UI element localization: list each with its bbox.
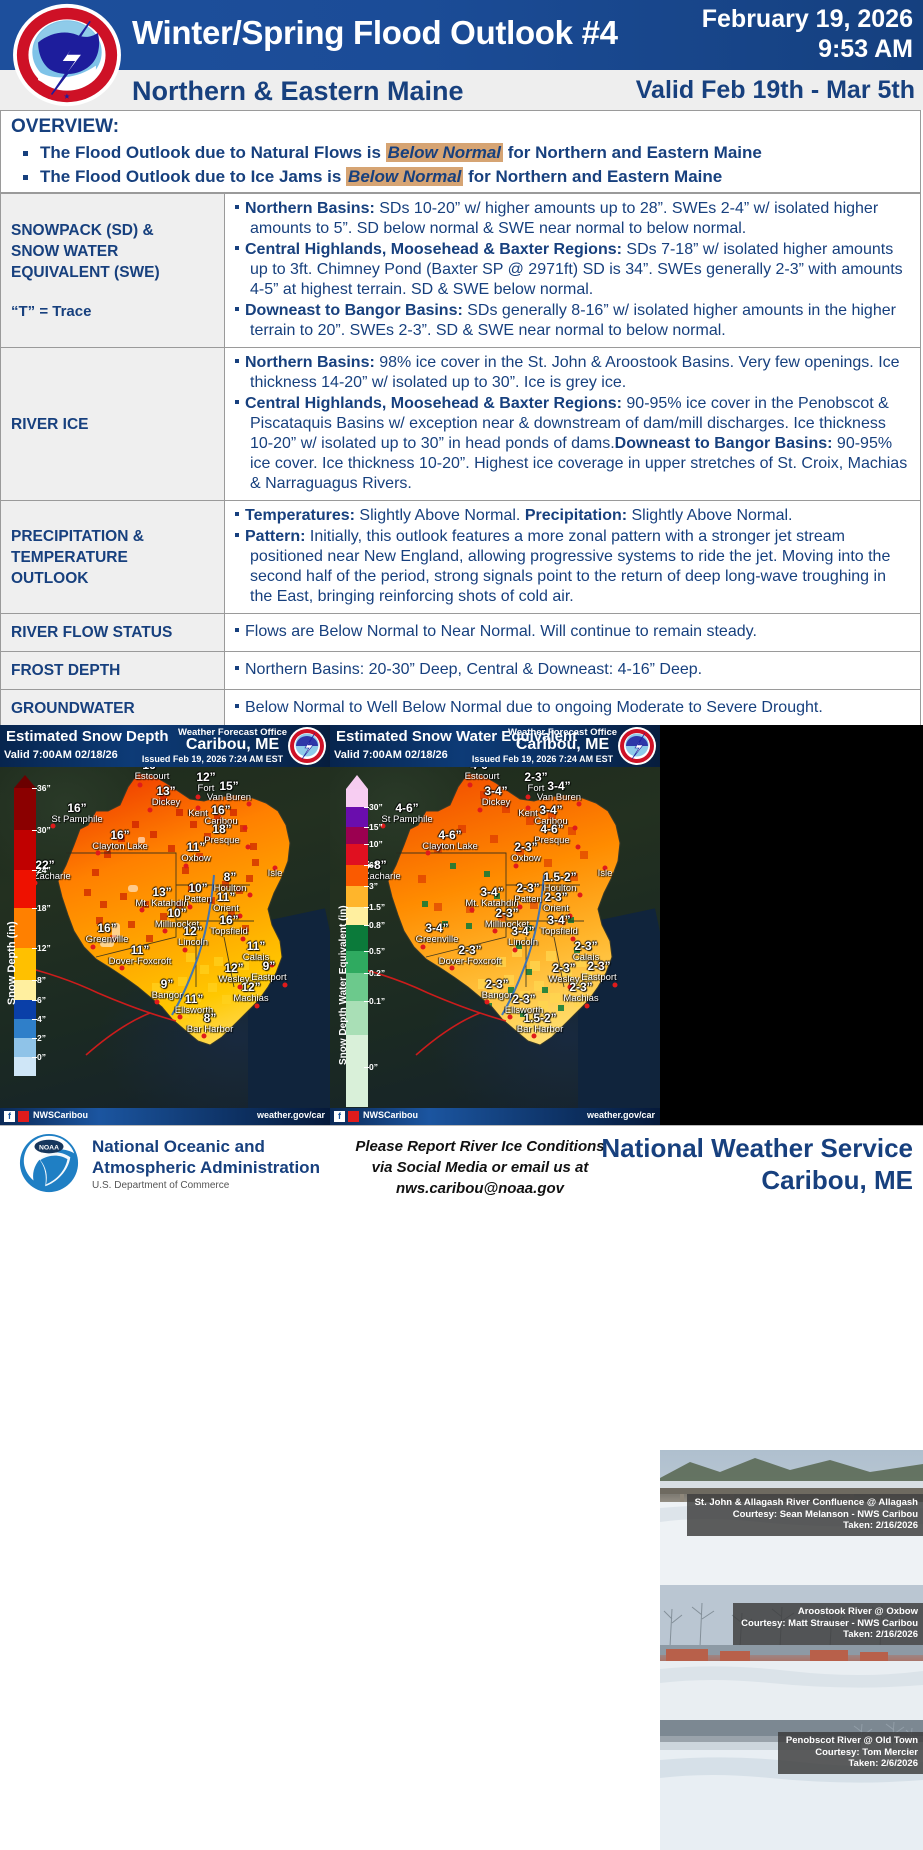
content-bullet: Central Highlands, Moosehead & Baxter Re… [235, 240, 912, 300]
bullet-lead-label: Pattern: [245, 528, 305, 545]
station-label: 3-4”Topsfield [540, 914, 578, 937]
station-name: Isle [598, 868, 613, 879]
station-value: 2-3” [485, 907, 529, 919]
station-value: 3-4” [534, 804, 567, 816]
row-content: Temperatures: Slightly Above Normal. Pre… [225, 501, 921, 614]
station-name: Bar Harbor [187, 1024, 233, 1035]
row-label-line: FROST DEPTH [11, 660, 224, 681]
station-label: 2-3”Orient [543, 891, 569, 914]
snow-water-equivalent-map[interactable]: 30” 15” 10” 6” 3” 1.5” 0.8” 0.5” 0.2” 0.… [330, 725, 660, 1125]
station-name: Van Buren [207, 792, 251, 803]
station-name: Topsfield [540, 926, 578, 937]
page-footer: NOAA National Oceanic and Atmospheric Ad… [0, 1125, 923, 1201]
row-label-line: RIVER ICE [11, 414, 224, 435]
social-bar: f NWSCaribou weather.gov/car [0, 1108, 330, 1125]
caption-line-1: Aroostook River @ Oxbow [741, 1606, 918, 1618]
colorbar-axis-label: Snow Depth (in) [6, 921, 18, 1005]
station-marker [578, 893, 583, 898]
graphics-band: 36” 30” 24” 18” 12” 8” 6” 4” 2” 0” Snow … [0, 725, 923, 1125]
row-label: GROUNDWATER [1, 690, 225, 728]
station-name: Bar Harbor [517, 1024, 563, 1035]
station-name: Lincoln [178, 937, 208, 948]
bullet-square-icon [23, 151, 28, 156]
station-value: 2-3” [482, 978, 513, 990]
station-label: Isle [268, 868, 283, 879]
bullet-lead-label: Downeast to Bangor Basins: [245, 302, 463, 319]
colorbar-tick: 24” [37, 865, 51, 875]
station-label: 3-4”Van Buren [537, 780, 581, 803]
table-row: RIVER ICENorthern Basins: 98% ice cover … [1, 348, 921, 501]
row-label-line: PRECIPITATION & [11, 526, 224, 547]
bullet-square-icon [235, 704, 239, 708]
header-valid-period: Valid Feb 19th - Mar 5th [636, 76, 915, 105]
caption-line-2: Courtesy: Tom Mercier [786, 1747, 918, 1759]
station-value: 11” [243, 940, 269, 952]
noaa-agency-name: National Oceanic and Atmospheric Adminis… [92, 1136, 320, 1178]
table-row: SNOWPACK (SD) &SNOW WATEREQUIVALENT (SWE… [1, 194, 921, 348]
station-value: 1.5-2” [543, 871, 576, 883]
station-label: 8”Bar Harbor [187, 1012, 233, 1035]
colorbar-tick: 12” [37, 943, 51, 953]
overview-bullet-list: The Flood Outlook due to Natural Flows i… [19, 141, 762, 189]
station-value: 3-4” [540, 914, 578, 926]
station-value: 4-6” [534, 823, 569, 835]
map-wfo-office: Caribou, ME [500, 736, 625, 754]
facebook-icon[interactable]: f [334, 1111, 345, 1122]
social-handle: NWSCaribou [33, 1110, 88, 1120]
social-bar: f NWSCaribou weather.gov/car [330, 1108, 660, 1125]
swe-colorbar: 30” 15” 10” 6” 3” 1.5” 0.8” 0.5” 0.2” 0.… [346, 775, 410, 1095]
bullet-lead-label: Central Highlands, Moosehead & Baxter Re… [245, 395, 622, 412]
outlook-table: SNOWPACK (SD) &SNOW WATEREQUIVALENT (SWE… [0, 193, 921, 728]
station-value: 16” [210, 914, 248, 926]
station-value: 2-3” [439, 944, 502, 956]
overview-panel: OVERVIEW: The Flood Outlook due to Natur… [0, 110, 921, 193]
svg-text:NOAA: NOAA [39, 1144, 59, 1151]
content-bullet: Below Normal to Well Below Normal due to… [235, 698, 912, 718]
noaa-line-1: National Oceanic and [92, 1136, 320, 1157]
noaa-line-2: Atmospheric Administration [92, 1157, 320, 1178]
station-name: Dickey [482, 797, 511, 808]
map-valid-time: Valid 7:00AM 02/18/26 [4, 749, 118, 761]
colorbar-tick: 1.5” [369, 902, 385, 912]
colorbar-tick: 18” [37, 903, 51, 913]
table-row: GROUNDWATERBelow Normal to Well Below No… [1, 690, 921, 728]
station-name: Patten [184, 894, 211, 905]
station-value: 1.5-2” [517, 1012, 563, 1024]
row-content: Flows are Below Normal to Near Normal. W… [225, 614, 921, 652]
twitter-icon[interactable] [18, 1111, 29, 1122]
station-value: 11” [175, 993, 214, 1005]
bullet-square-icon [235, 246, 239, 250]
caption-line-2: Courtesy: Sean Melanson - NWS Caribou [695, 1509, 918, 1521]
report-email[interactable]: nws.caribou@noaa.gov [330, 1178, 630, 1199]
station-marker [468, 783, 473, 788]
bullet-lead-label: Central Highlands, Moosehead & Baxter Re… [245, 241, 622, 258]
colorbar-tick: 6” [37, 995, 46, 1005]
station-value: 2-3” [549, 962, 580, 974]
facebook-icon[interactable]: f [4, 1111, 15, 1122]
station-marker [573, 826, 578, 831]
bullet-square-icon [23, 175, 28, 180]
station-label: 3-4”Dickey [482, 785, 511, 808]
station-name: Clayton Lake [422, 841, 477, 852]
svg-text:★: ★ [64, 92, 71, 100]
snow-depth-map[interactable]: 36” 30” 24” 18” 12” 8” 6” 4” 2” 0” Snow … [0, 725, 330, 1125]
station-marker [91, 945, 96, 950]
caption-line-3: Taken: 2/6/2026 [786, 1758, 918, 1770]
station-marker [184, 864, 189, 869]
content-bullet: Pattern: Initially, this outlook feature… [235, 527, 912, 607]
nws-logo-icon: ★ [8, 2, 126, 108]
twitter-icon[interactable] [348, 1111, 359, 1122]
station-name: Estcourt [465, 771, 500, 782]
colorbar-tick: 30” [369, 802, 383, 812]
station-marker [526, 795, 531, 800]
station-value: 3-4” [537, 780, 581, 792]
station-label: 3-4”Lincoln [508, 925, 538, 948]
colorbar-tick: 3” [369, 881, 378, 891]
station-value: 18” [204, 823, 239, 835]
station-label: 12”Lincoln [178, 925, 208, 948]
station-value: 12” [178, 925, 208, 937]
station-value: 16” [86, 922, 129, 934]
station-name: Topsfield [210, 926, 248, 937]
row-label: RIVER ICE [1, 348, 225, 501]
content-bullet: Downeast to Bangor Basins: SDs generally… [235, 301, 912, 341]
station-value: 2-3” [543, 891, 569, 903]
bullet-square-icon [235, 666, 239, 670]
row-content: Below Normal to Well Below Normal due to… [225, 690, 921, 728]
station-value: 11” [181, 841, 211, 853]
photo-column: St. John & Allagash River Confluence @ A… [660, 1450, 923, 1850]
outlook-status-badge: Below Normal [346, 167, 463, 186]
map-header: Estimated Snow Water Equivalent Valid 7:… [330, 725, 660, 767]
station-marker [183, 948, 188, 953]
caption-line-1: St. John & Allagash River Confluence @ A… [695, 1497, 918, 1509]
row-label: PRECIPITATION &TEMPERATUREOUTLOOK [1, 501, 225, 614]
station-marker [196, 795, 201, 800]
station-name: Isle [268, 868, 283, 879]
station-label: 15”Van Buren [207, 780, 251, 803]
station-marker [585, 1004, 590, 1009]
colorbar-tick: 2” [37, 1033, 46, 1043]
bullet-square-icon [235, 628, 239, 632]
row-content: Northern Basins: 20-30” Deep, Central & … [225, 652, 921, 690]
station-label: 16”Greenville [86, 922, 129, 945]
photo-caption: St. John & Allagash River Confluence @ A… [687, 1494, 923, 1536]
nws-name: National Weather Service [601, 1132, 913, 1164]
station-value: 15” [207, 780, 251, 792]
overview-heading: OVERVIEW: [11, 116, 119, 138]
colorbar-axis-label: Snow Depth Water Equivalent (in) [338, 905, 349, 1065]
colorbar-tick: 0.2” [369, 968, 385, 978]
station-value: 3-4” [482, 785, 511, 797]
station-marker [613, 983, 618, 988]
bullet-lead-label: Temperatures: [245, 507, 355, 524]
table-row: RIVER FLOW STATUSFlows are Below Normal … [1, 614, 921, 652]
map-issued-time: Issued Feb 19, 2026 7:24 AM EST [460, 754, 625, 764]
station-marker [576, 845, 581, 850]
station-value: 8” [214, 871, 247, 883]
outlook-status-badge: Below Normal [386, 143, 503, 162]
station-label: 12”Machias [233, 981, 268, 1004]
station-value: 2-3” [581, 960, 616, 972]
station-value: 3-4” [465, 886, 518, 898]
station-value: 10” [155, 907, 199, 919]
colorbar-tick: 0.5” [369, 946, 385, 956]
bullet-square-icon [235, 359, 239, 363]
caption-line-1: Penobscot River @ Old Town [786, 1735, 918, 1747]
station-name: Patten [514, 894, 541, 905]
station-value: 11” [213, 891, 239, 903]
row-label: SNOWPACK (SD) &SNOW WATEREQUIVALENT (SWE… [1, 194, 225, 348]
social-handle: NWSCaribou [363, 1110, 418, 1120]
station-name: Oxbow [181, 853, 211, 864]
photo-st-john-allagash: St. John & Allagash River Confluence @ A… [660, 1450, 923, 1585]
row-label-line: SNOWPACK (SD) & [11, 220, 224, 241]
station-name: Dover-Foxcroft [439, 956, 502, 967]
caption-line-3: Taken: 2/16/2026 [741, 1629, 918, 1641]
station-label: 11”Orient [213, 891, 239, 914]
station-value: 10” [184, 882, 211, 894]
colorbar-tick: 8” [37, 975, 46, 985]
colorbar-tick: 10” [369, 839, 383, 849]
colorbar-tick: 0” [37, 1052, 46, 1062]
content-bullet: Northern Basins: SDs 10-20” w/ higher am… [235, 199, 912, 239]
row-label-line: OUTLOOK [11, 568, 224, 589]
row-label-line: EQUIVALENT (SWE) [11, 262, 224, 283]
station-value: 12” [219, 962, 250, 974]
content-bullet: Temperatures: Slightly Above Normal. Pre… [235, 506, 912, 526]
colorbar-gradient [346, 775, 368, 1107]
station-label: 16”Clayton Lake [92, 829, 147, 852]
station-name: Oxbow [511, 853, 541, 864]
station-marker [243, 826, 248, 831]
bullet-square-icon [235, 512, 239, 516]
station-marker [478, 808, 483, 813]
station-marker [514, 864, 519, 869]
table-row: FROST DEPTHNorthern Basins: 20-30” Deep,… [1, 652, 921, 690]
bullet-square-icon [235, 205, 239, 209]
station-value: 9” [251, 960, 286, 972]
station-name: Machias [233, 993, 268, 1004]
bullet-lead-label-2: Downeast to Bangor Basins: [615, 435, 833, 452]
station-value: 3-4” [508, 925, 538, 937]
station-label: 2-3”Patten [514, 882, 541, 905]
snow-depth-colorbar: 36” 30” 24” 18” 12” 8” 6” 4” 2” 0” Snow … [14, 775, 78, 1075]
row-label-line: SNOW WATER [11, 241, 224, 262]
nws-seal-icon [617, 726, 657, 766]
header-date: February 19, 2026 [702, 4, 913, 34]
row-label: FROST DEPTH [1, 652, 225, 690]
content-bullet: Flows are Below Normal to Near Normal. W… [235, 622, 912, 642]
header-subtitle: Northern & Eastern Maine [132, 76, 464, 107]
bullet-square-icon [235, 400, 239, 404]
station-marker [248, 893, 253, 898]
station-label: 11”Oxbow [181, 841, 211, 864]
bullet-square-icon [235, 307, 239, 311]
station-value: 16” [204, 804, 237, 816]
row-label-line: RIVER FLOW STATUS [11, 622, 224, 643]
overview-bullet: The Flood Outlook due to Ice Jams is Bel… [19, 165, 762, 189]
station-value: 16” [92, 829, 147, 841]
photo-penobscot-old-town: Penobscot River @ Old Town Courtesy: Tom… [660, 1720, 923, 1850]
row-content: Northern Basins: SDs 10-20” w/ higher am… [225, 194, 921, 348]
spacer [11, 283, 224, 301]
station-value: 2-3” [573, 940, 599, 952]
station-label: 11”Dover-Foxcroft [109, 944, 172, 967]
station-label: 16”Topsfield [210, 914, 248, 937]
station-marker [148, 808, 153, 813]
page-header: ★ Winter/Spring Flood Outlook #4 Februar… [0, 0, 923, 110]
colorbar-tick: 30” [37, 825, 51, 835]
station-value: 2-3” [563, 981, 598, 993]
content-bullet: Northern Basins: 20-30” Deep, Central & … [235, 660, 912, 680]
station-name: Machias [563, 993, 598, 1004]
photo-aroostook-oxbow: Aroostook River @ Oxbow Courtesy: Matt S… [660, 1585, 923, 1720]
station-value: 2-3” [505, 993, 544, 1005]
nws-seal-icon [287, 726, 327, 766]
map-header: Estimated Snow Depth Valid 7:00AM 02/18/… [0, 725, 330, 767]
row-label-line: TEMPERATURE [11, 547, 224, 568]
page-title: Winter/Spring Flood Outlook #4 [132, 14, 618, 52]
row-label-note: “T” = Trace [11, 301, 224, 322]
photo-caption: Penobscot River @ Old Town Courtesy: Tom… [778, 1732, 923, 1774]
report-request: Please Report River Ice Conditions via S… [330, 1136, 630, 1199]
station-label: 13”Dickey [152, 785, 181, 808]
station-label: 4-6”Clayton Lake [422, 829, 477, 852]
station-value: 4-6” [422, 829, 477, 841]
header-datetime: February 19, 2026 9:53 AM [702, 4, 913, 64]
colorbar-tick: 6” [369, 860, 378, 870]
colorbar-tick: 0.1” [369, 996, 385, 1006]
station-name: Clayton Lake [92, 841, 147, 852]
colorbar-tick: 15” [369, 822, 383, 832]
flood-outlook-infographic: ★ Winter/Spring Flood Outlook #4 Februar… [0, 0, 923, 1200]
station-name: Estcourt [135, 771, 170, 782]
station-value: 13” [135, 886, 188, 898]
row-label: RIVER FLOW STATUS [1, 614, 225, 652]
caption-line-2: Courtesy: Matt Strauser - NWS Caribou [741, 1618, 918, 1630]
colorbar-tick: 0.8” [369, 920, 385, 930]
website-url: weather.gov/car [587, 1110, 655, 1120]
station-label: 3-4”Greenville [416, 922, 459, 945]
station-marker [513, 948, 518, 953]
website-url: weather.gov/car [257, 1110, 325, 1120]
station-value: 2-3” [511, 841, 541, 853]
row-label-line: GROUNDWATER [11, 698, 224, 719]
header-time: 9:53 AM [702, 34, 913, 64]
report-line-1: Please Report River Ice Conditions [330, 1136, 630, 1157]
station-value: 11” [109, 944, 172, 956]
station-marker [255, 1004, 260, 1009]
station-name: Dover-Foxcroft [109, 956, 172, 967]
map-valid-time: Valid 7:00AM 02/18/26 [334, 749, 448, 761]
bullet-lead-label-2: Precipitation: [525, 507, 627, 524]
station-marker [246, 845, 251, 850]
station-marker [421, 945, 426, 950]
station-label: Isle [598, 868, 613, 879]
station-label: 2-3”Machias [563, 981, 598, 1004]
nws-office-city: Caribou, ME [601, 1164, 913, 1196]
bullet-square-icon [235, 533, 239, 537]
station-value: 9” [152, 978, 183, 990]
map-issued-time: Issued Feb 19, 2026 7:24 AM EST [130, 754, 295, 764]
station-value: 8” [187, 1012, 233, 1024]
station-name: Van Buren [537, 792, 581, 803]
station-value: 12” [233, 981, 268, 993]
table-row: PRECIPITATION &TEMPERATUREOUTLOOKTempera… [1, 501, 921, 614]
station-label: 2-3”Dover-Foxcroft [439, 944, 502, 967]
row-content: Northern Basins: 98% ice cover in the St… [225, 348, 921, 501]
station-name: Lincoln [508, 937, 538, 948]
station-value: 3-4” [416, 922, 459, 934]
station-label: 2-3”Oxbow [511, 841, 541, 864]
content-bullet: Central Highlands, Moosehead & Baxter Re… [235, 394, 912, 494]
noaa-logo-icon: NOAA [18, 1132, 80, 1194]
map-title: Estimated Snow Depth [6, 728, 169, 745]
bullet-lead-label: Northern Basins: [245, 200, 375, 217]
overview-bullet: The Flood Outlook due to Natural Flows i… [19, 141, 762, 165]
nws-office-block: National Weather Service Caribou, ME [601, 1132, 913, 1196]
station-value: 2-3” [514, 882, 541, 894]
report-line-2: via Social Media or email us at [330, 1157, 630, 1178]
colorbar-tick: 0” [369, 1062, 378, 1072]
content-bullet: Northern Basins: 98% ice cover in the St… [235, 353, 912, 393]
photo-caption: Aroostook River @ Oxbow Courtesy: Matt S… [733, 1603, 923, 1645]
station-marker [283, 983, 288, 988]
map-wfo-office: Caribou, ME [170, 736, 295, 754]
station-label: 10”Patten [184, 882, 211, 905]
bullet-lead-label: Northern Basins: [245, 354, 375, 371]
station-marker [138, 783, 143, 788]
station-name: Dickey [152, 797, 181, 808]
colorbar-tick: 36” [37, 783, 51, 793]
station-label: 1.5-2”Bar Harbor [517, 1012, 563, 1035]
noaa-dept-line: U.S. Department of Commerce [92, 1180, 229, 1191]
station-value: 13” [152, 785, 181, 797]
caption-line-3: Taken: 2/16/2026 [695, 1520, 918, 1532]
colorbar-tick: 4” [37, 1014, 46, 1024]
